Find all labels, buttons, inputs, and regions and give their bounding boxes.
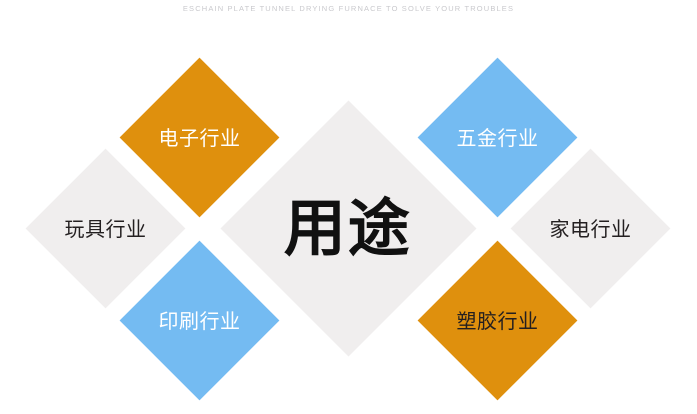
diamond-electronics-label: 电子行业 xyxy=(158,127,240,147)
usage-diagram-canvas: ESCHAIN PLATE TUNNEL DRYING FURNACE TO S… xyxy=(0,0,697,414)
header-tagline: ESCHAIN PLATE TUNNEL DRYING FURNACE TO S… xyxy=(0,4,697,13)
diamond-center-label: 用途 xyxy=(284,197,412,259)
diamond-toys-label: 玩具行业 xyxy=(64,218,146,238)
diamond-hardware-label: 五金行业 xyxy=(456,127,538,147)
diamond-printing-label: 印刷行业 xyxy=(158,310,240,330)
diamond-home-appliance-label: 家电行业 xyxy=(549,218,631,238)
diamond-plastics-label: 塑胶行业 xyxy=(456,310,538,330)
